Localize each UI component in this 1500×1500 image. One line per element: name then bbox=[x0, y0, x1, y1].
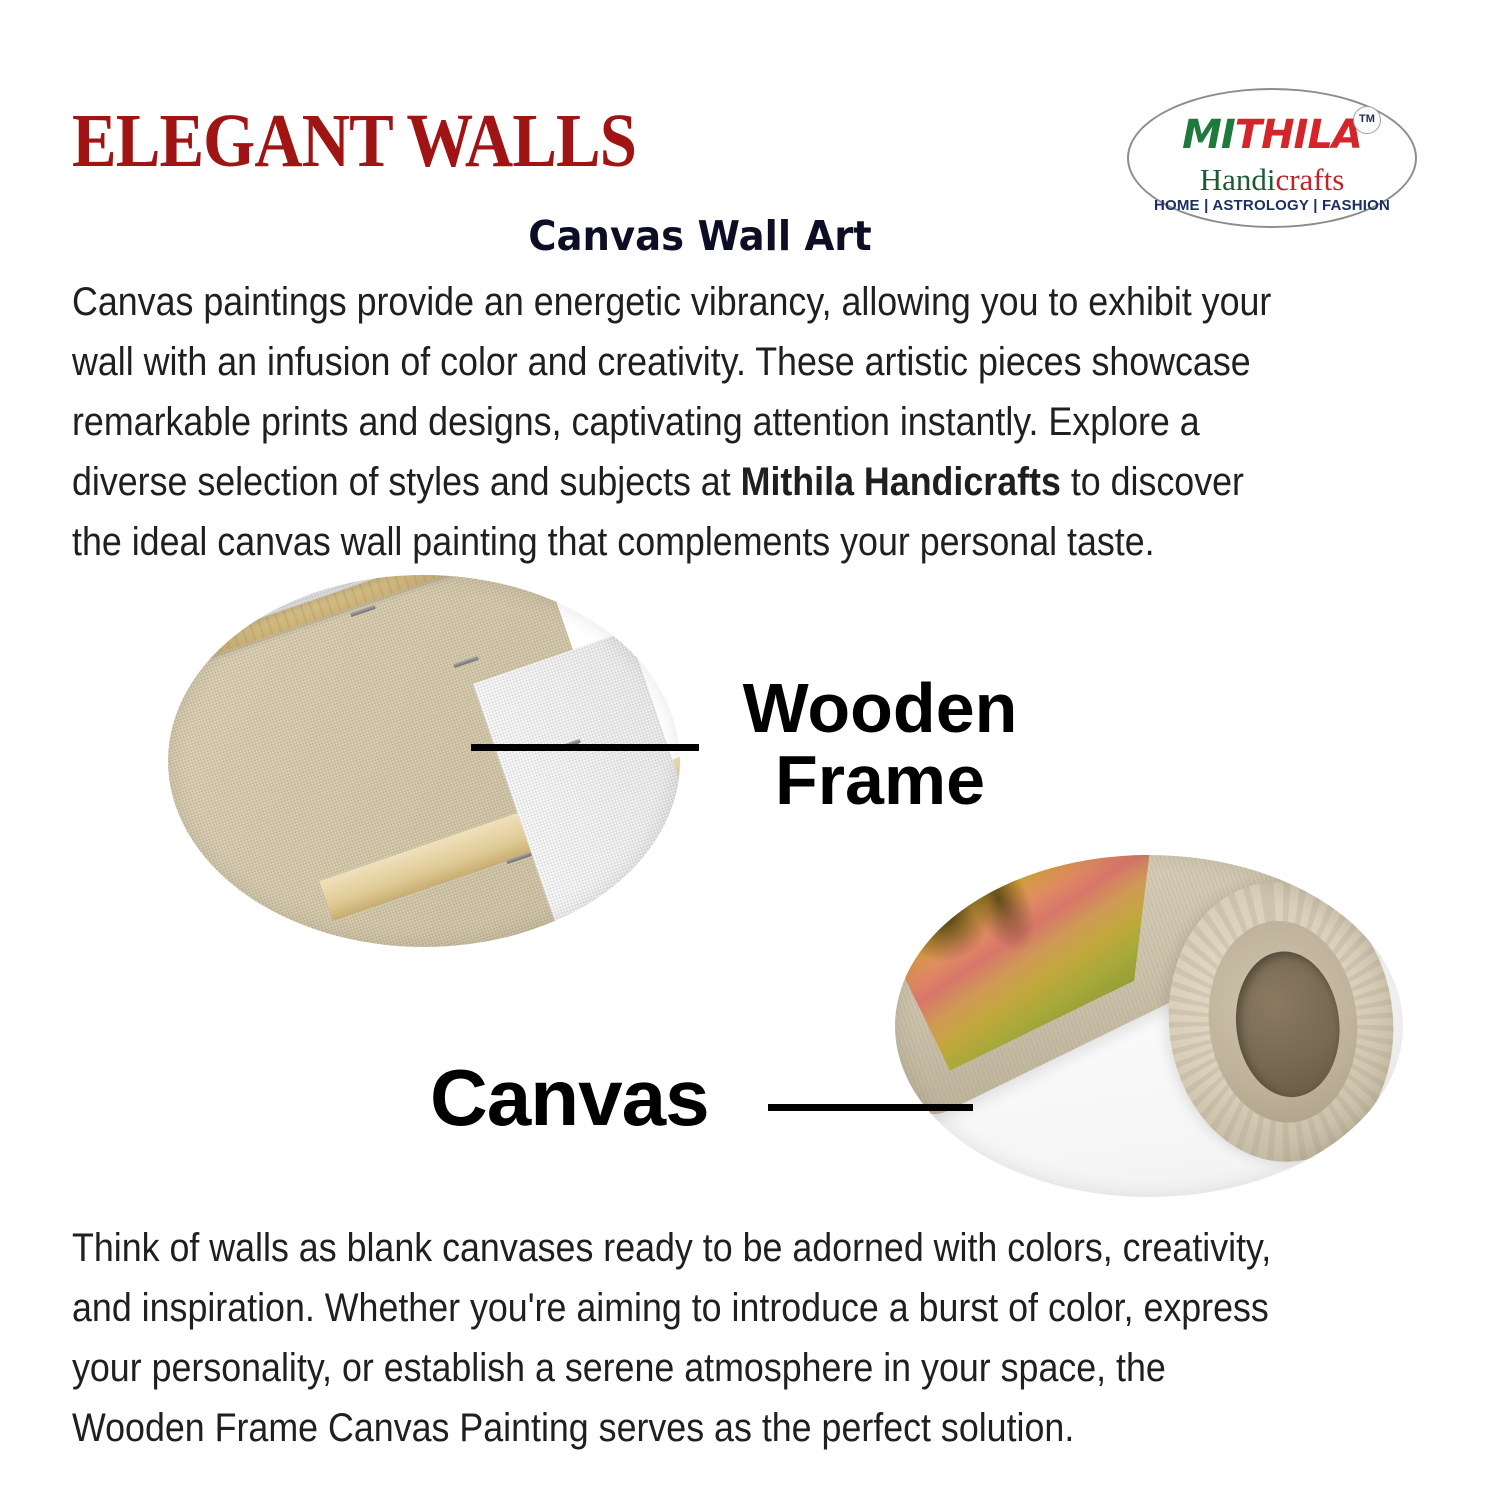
logo-wordmark-mi: MI bbox=[1182, 112, 1235, 158]
page-subtitle: Canvas Wall Art bbox=[42, 212, 1358, 260]
leader-line-canvas bbox=[768, 1104, 973, 1111]
logo-subname-handi: Handi bbox=[1200, 162, 1276, 197]
leader-line-wooden-frame bbox=[471, 744, 699, 751]
callout-label-wooden-frame-line2: Frame bbox=[700, 744, 1060, 816]
intro-paragraph: Canvas paintings provide an energetic vi… bbox=[72, 272, 1296, 572]
logo-subname: Handicrafts bbox=[1129, 162, 1415, 198]
page-title: ELEGANT WALLS bbox=[72, 105, 636, 177]
closing-paragraph: Think of walls as blank canvases ready t… bbox=[72, 1218, 1296, 1458]
brand-mention: Mithila Handicrafts bbox=[741, 460, 1061, 504]
wooden-frame-photo bbox=[168, 575, 680, 947]
trademark-icon: TM bbox=[1353, 106, 1381, 134]
callout-label-wooden-frame-line1: Wooden bbox=[700, 672, 1060, 744]
canvas-roll-photo bbox=[895, 855, 1403, 1197]
frame-photo-scene bbox=[168, 575, 680, 947]
logo-subname-crafts: crafts bbox=[1275, 162, 1344, 197]
callout-label-wooden-frame: Wooden Frame bbox=[700, 672, 1060, 816]
logo-wordmark-thila: THILA bbox=[1235, 112, 1362, 158]
callout-label-canvas: Canvas bbox=[430, 1058, 709, 1138]
brand-logo: MITHILA TM Handicrafts HOME | ASTROLOGY … bbox=[1127, 88, 1417, 228]
